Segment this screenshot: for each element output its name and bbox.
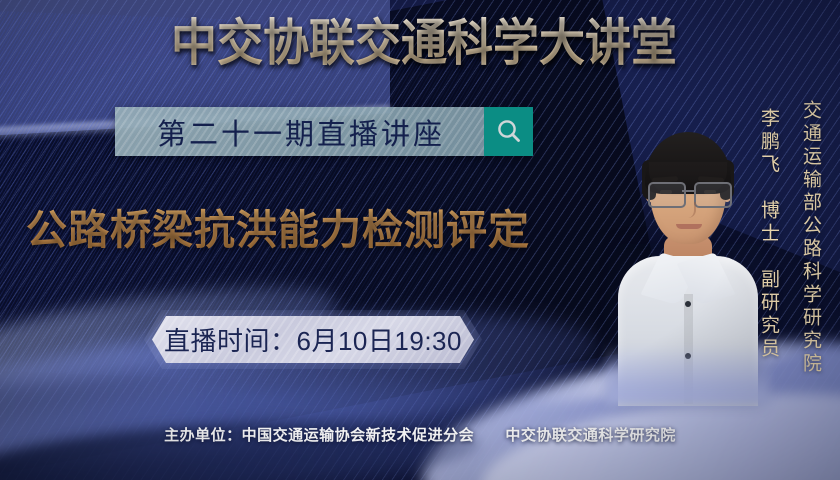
organizer-primary: 主办单位：中国交通运输协会新技术促进分会 <box>164 427 474 444</box>
glasses-bridge <box>682 190 694 192</box>
episode-search-field[interactable]: 第二十一期直播讲座 <box>115 107 484 156</box>
live-time-banner: 直播时间：6月10日19:30 <box>152 316 474 363</box>
search-button[interactable] <box>484 107 533 156</box>
portrait-shirt-button-top <box>685 301 691 307</box>
live-time-text: 直播时间：6月10日19:30 <box>164 321 462 358</box>
portrait-bottom-fade <box>606 344 770 406</box>
glasses-icon <box>645 182 731 204</box>
organizer-secondary: 中交协联交通科学研究院 <box>505 427 676 444</box>
glasses-lens-left <box>648 182 686 208</box>
episode-search-bar[interactable]: 第二十一期直播讲座 <box>115 107 533 156</box>
speaker-name-title: 李鹏飞 博士 副研究员 <box>755 108 782 361</box>
glasses-lens-right <box>694 182 732 208</box>
organizer-footer: 主办单位：中国交通运输协会新技术促进分会 中交协联交通科学研究院 <box>0 424 840 445</box>
live-lecture-poster: 中交协联交通科学大讲堂 中交协联交通科学大讲堂 第二十一期直播讲座 公路桥梁抗洪… <box>0 0 840 480</box>
portrait-mouth <box>676 224 702 229</box>
speaker-organization: 交通运输部公路科学研究院 <box>797 100 824 376</box>
speaker-portrait <box>612 98 762 398</box>
page-title: 中交协联交通科学大讲堂 <box>157 14 691 72</box>
episode-label: 第二十一期直播讲座 <box>154 111 445 153</box>
lecture-topic: 公路桥梁抗洪能力检测评定 <box>26 204 530 256</box>
search-icon <box>494 117 524 147</box>
